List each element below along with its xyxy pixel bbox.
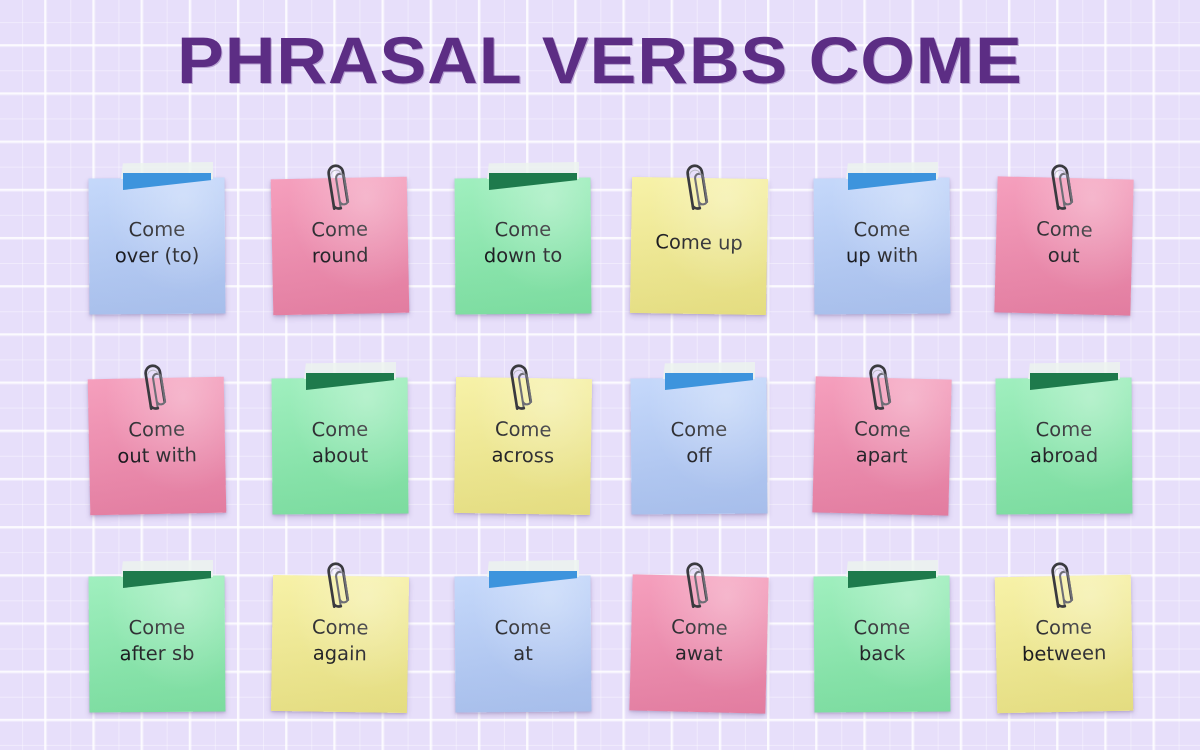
note-paper[interactable]: Come back	[814, 576, 951, 713]
sticky-note-come-up-with[interactable]: Come up with	[806, 160, 956, 335]
note-paper[interactable]: Come up	[630, 177, 768, 315]
note-label: Come between	[1000, 614, 1127, 668]
note-paper[interactable]: Come abroad	[996, 378, 1133, 515]
note-label: Come abroad	[1001, 417, 1127, 469]
sticky-note-come-again[interactable]: Come again	[264, 558, 414, 733]
note-label: Come up with	[819, 217, 945, 269]
note-label: Come down to	[460, 217, 586, 269]
note-paper[interactable]: Come over (to)	[89, 178, 226, 315]
sticky-note-come-about[interactable]: Come about	[264, 360, 414, 535]
note-paper[interactable]: Come about	[272, 378, 409, 515]
sticky-note-come-down-to[interactable]: Come down to	[447, 160, 597, 335]
sticky-note-come-across[interactable]: Come across	[447, 360, 597, 535]
note-label: Come up	[636, 229, 762, 257]
note-label: Come across	[460, 416, 587, 469]
sticky-note-come-awat[interactable]: Come awat	[623, 558, 773, 733]
sticky-note-come-at[interactable]: Come at	[447, 558, 597, 733]
sticky-note-come-round[interactable]: Come round	[264, 160, 414, 335]
sticky-note-come-apart[interactable]: Come apart	[806, 360, 956, 535]
note-label: Come about	[277, 417, 403, 469]
sticky-note-come-after-sb[interactable]: Come after sb	[81, 558, 231, 733]
note-paper[interactable]: Come down to	[455, 178, 592, 315]
sticky-note-come-back[interactable]: Come back	[806, 558, 956, 733]
note-paper[interactable]: Come between	[995, 575, 1134, 714]
note-label: Come at	[460, 615, 586, 667]
note-paper[interactable]: Come at	[455, 576, 592, 713]
sticky-note-come-over-to[interactable]: Come over (to)	[81, 160, 231, 335]
note-label: Come round	[276, 216, 403, 270]
note-paper[interactable]: Come across	[454, 377, 592, 515]
note-label: Come out	[1000, 216, 1127, 271]
note-label: Come over (to)	[94, 217, 220, 269]
sticky-note-come-out[interactable]: Come out	[988, 160, 1138, 335]
note-paper[interactable]: Come out	[994, 176, 1133, 315]
note-label: Come after sb	[94, 615, 220, 667]
note-label: Come again	[277, 614, 404, 667]
note-paper[interactable]: Come up with	[814, 178, 951, 315]
note-label: Come apart	[818, 416, 945, 471]
note-paper[interactable]: Come off	[631, 378, 768, 515]
note-paper[interactable]: Come after sb	[89, 576, 226, 713]
note-paper[interactable]: Come again	[271, 575, 409, 713]
note-paper[interactable]: Come out with	[88, 377, 227, 516]
note-label: Come off	[636, 417, 762, 469]
sticky-notes-grid: Come over (to)Come roundCome down toCome…	[0, 160, 1200, 740]
sticky-note-come-out-with[interactable]: Come out with	[81, 360, 231, 535]
note-label: Come out with	[93, 416, 220, 470]
sticky-note-come-abroad[interactable]: Come abroad	[988, 360, 1138, 535]
note-label: Come awat	[635, 614, 762, 669]
sticky-note-come-off[interactable]: Come off	[623, 360, 773, 535]
page-title: PHRASAL VERBS COME	[0, 22, 1200, 98]
note-paper[interactable]: Come awat	[629, 574, 768, 713]
sticky-note-come-up[interactable]: Come up	[623, 160, 773, 335]
note-paper[interactable]: Come round	[271, 177, 410, 316]
sticky-note-come-between[interactable]: Come between	[988, 558, 1138, 733]
note-label: Come back	[819, 615, 945, 667]
note-paper[interactable]: Come apart	[812, 376, 951, 515]
